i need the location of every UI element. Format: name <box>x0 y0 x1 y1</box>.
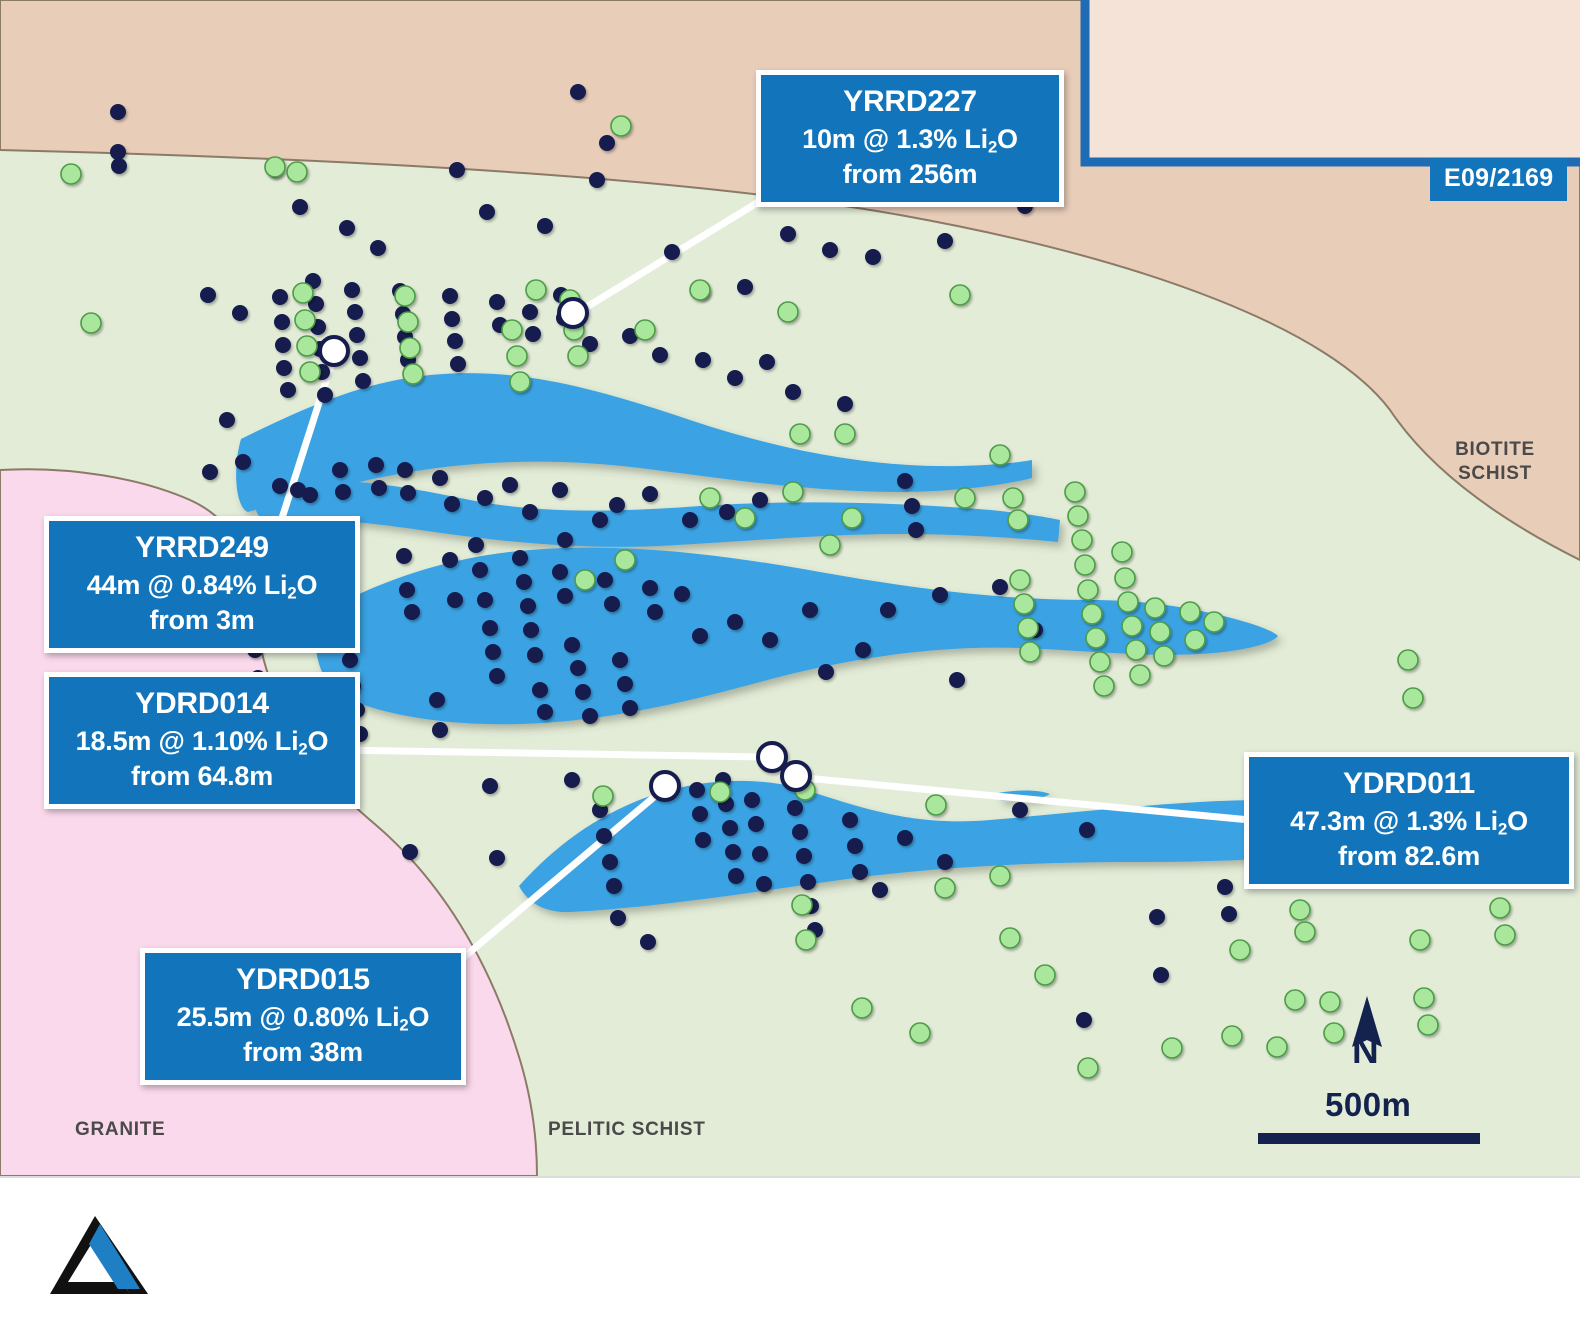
intercept-marker-ydrd015 <box>651 772 679 800</box>
callout-from: from 82.6m <box>1263 840 1555 873</box>
callout-hole-id: YRRD249 <box>63 530 341 567</box>
callout-hole-id: YDRD015 <box>159 962 447 999</box>
delta-lithium-logo <box>40 1204 240 1299</box>
callout-interval: 10m @ 1.3% Li2O <box>775 123 1045 158</box>
tenement-boundary-fill <box>1085 0 1580 162</box>
callout-interval: 44m @ 0.84% Li2O <box>63 569 341 604</box>
geology-map[interactable]: BIOTITE SCHIST GRANITE PELITIC SCHIST E0… <box>0 0 1580 1176</box>
callout-ydrd015[interactable]: YDRD015 25.5m @ 0.80% Li2O from 38m <box>140 948 466 1085</box>
callout-yrrd227[interactable]: YRRD227 10m @ 1.3% Li2O from 256m <box>756 70 1064 207</box>
callout-interval: 25.5m @ 0.80% Li2O <box>159 1001 447 1036</box>
callout-from: from 3m <box>63 604 341 637</box>
callout-interval: 47.3m @ 1.3% Li2O <box>1263 805 1555 840</box>
pelitic-schist-label: PELITIC SCHIST <box>548 1118 706 1142</box>
callout-hole-id: YDRD011 <box>1263 766 1555 803</box>
intercept-marker-yrrd249 <box>320 337 348 365</box>
callout-from: from 256m <box>775 158 1045 191</box>
callout-from: from 64.8m <box>63 760 341 793</box>
callout-hole-id: YRRD227 <box>775 84 1045 121</box>
biotite-schist-label-line2: SCHIST <box>1458 463 1532 484</box>
scale-bar <box>1258 1133 1480 1144</box>
map-figure: BIOTITE SCHIST GRANITE PELITIC SCHIST E0… <box>0 0 1580 1331</box>
callout-interval: 18.5m @ 1.10% Li2O <box>63 725 341 760</box>
tenement-label: E09/2169 <box>1430 158 1567 201</box>
intercept-marker-ydrd014 <box>758 743 786 771</box>
scale-bar-label: 500m <box>1325 1086 1411 1124</box>
biotite-schist-label: BIOTITE SCHIST <box>1425 438 1565 487</box>
biotite-schist-label-line1: BIOTITE <box>1455 439 1535 460</box>
callout-hole-id: YDRD014 <box>63 686 341 723</box>
granite-label: GRANITE <box>75 1118 165 1142</box>
intercept-marker-ydrd011 <box>782 762 810 790</box>
callout-ydrd011[interactable]: YDRD011 47.3m @ 1.3% Li2O from 82.6m <box>1244 752 1574 889</box>
callout-ydrd014[interactable]: YDRD014 18.5m @ 1.10% Li2O from 64.8m <box>44 672 360 809</box>
legend-bar: DELTA LITHIUM YINNETHARRA RESULTS Signif… <box>0 1176 1580 1331</box>
callout-from: from 38m <box>159 1036 447 1069</box>
north-label: N <box>1352 1030 1379 1072</box>
callout-yrrd249[interactable]: YRRD249 44m @ 0.84% Li2O from 3m <box>44 516 360 653</box>
intercept-marker-yrrd227 <box>559 299 587 327</box>
